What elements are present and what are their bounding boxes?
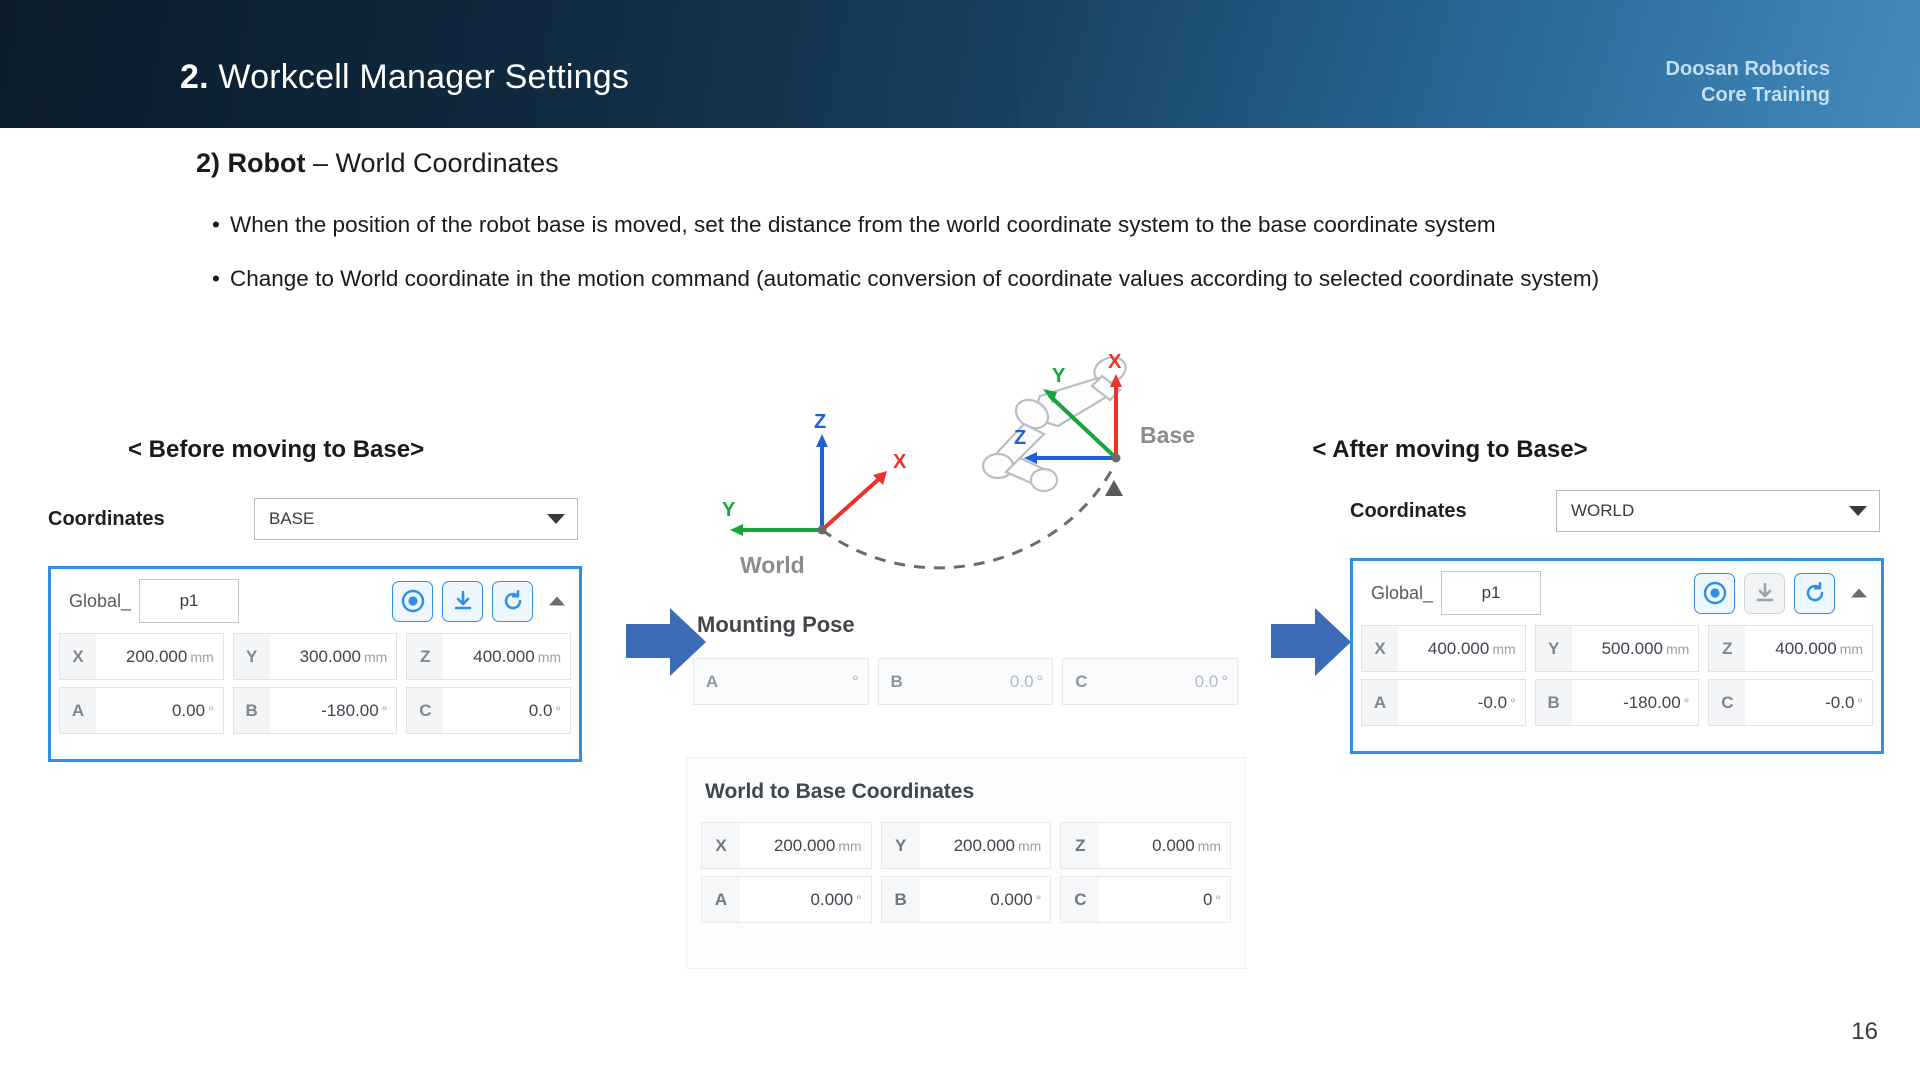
chevron-up-icon[interactable] <box>549 597 565 606</box>
axis-label: C <box>1061 877 1099 922</box>
axis-label: B <box>882 877 920 922</box>
after-pose-panel: Global_ p1 X 400.000mm Y 500.000mm <box>1350 558 1884 754</box>
axis-unit: ° <box>856 892 862 908</box>
axis-unit: mm <box>364 649 387 665</box>
section-heading: 2) Robot – World Coordinates <box>196 148 559 179</box>
coordinates-select-value: WORLD <box>1557 501 1634 521</box>
world-frame-label: World <box>740 552 805 579</box>
axis-label: B <box>234 688 270 733</box>
pose-cell-y[interactable]: Y 500.000mm <box>1535 625 1700 672</box>
svg-text:Y: Y <box>722 499 736 521</box>
axis-label: Y <box>882 823 920 868</box>
wtb-cell-b[interactable]: B 0.000° <box>881 876 1052 923</box>
pose-cell-a[interactable]: A -0.0° <box>1361 679 1526 726</box>
axis-label: A <box>694 659 730 704</box>
table-row: A 0.000° B 0.000° C 0° <box>701 876 1231 923</box>
chevron-up-icon[interactable] <box>1851 589 1867 598</box>
wtb-cell-c[interactable]: C 0° <box>1060 876 1231 923</box>
axis-label: C <box>1063 659 1099 704</box>
chapter-number: 2. <box>180 58 209 96</box>
table-row: A 0.00° B -180.00° C 0.0° <box>59 687 571 734</box>
axis-unit: mm <box>1198 838 1221 854</box>
axis-label: X <box>60 634 96 679</box>
before-pose-panel: Global_ p1 X 200.000mm Y 300.000mm <box>48 566 582 762</box>
pose-header: Global_ p1 <box>1353 561 1881 625</box>
axis-value: -0.0 <box>1478 693 1507 713</box>
axis-label: A <box>60 688 96 733</box>
coordinates-label: Coordinates <box>48 508 254 531</box>
axis-label: C <box>1709 680 1745 725</box>
bullet-text: When the position of the robot base is m… <box>230 208 1632 242</box>
axis-label: C <box>407 688 443 733</box>
chevron-down-icon <box>1849 506 1867 516</box>
axis-unit: ° <box>555 703 561 719</box>
mounting-pose-title: Mounting Pose <box>697 612 855 638</box>
axis-value: 0.000 <box>990 890 1033 910</box>
axis-unit: ° <box>1215 892 1221 908</box>
global-label: Global_ <box>1371 583 1433 604</box>
axis-unit: mm <box>1840 641 1863 657</box>
axis-unit: ° <box>852 672 859 692</box>
axis-unit: mm <box>190 649 213 665</box>
axis-label: Y <box>234 634 270 679</box>
slide-header: 2. Workcell Manager Settings Doosan Robo… <box>0 0 1920 128</box>
refresh-icon[interactable] <box>1794 573 1835 614</box>
axis-unit: ° <box>1510 695 1516 711</box>
axis-unit: ° <box>208 703 214 719</box>
pose-cell-z[interactable]: Z 400.000mm <box>1708 625 1873 672</box>
coordinates-label: Coordinates <box>1350 500 1556 523</box>
axis-value: -0.0 <box>1825 693 1854 713</box>
axis-unit: mm <box>538 649 561 665</box>
bullet-text: Change to World coordinate in the motion… <box>230 262 1632 296</box>
bullet-marker-icon: • <box>212 262 230 296</box>
coordinate-frame-diagram: Z Y X X Z Y <box>640 330 1200 580</box>
wtb-cell-a[interactable]: A 0.000° <box>701 876 872 923</box>
svg-text:Z: Z <box>1014 427 1026 449</box>
bullet-marker-icon: • <box>212 208 230 242</box>
axis-unit: ° <box>1221 672 1228 692</box>
coordinates-select-value: BASE <box>255 509 314 529</box>
table-row: X 200.000mm Y 300.000mm Z 400.000mm <box>59 633 571 680</box>
pose-cell-y[interactable]: Y 300.000mm <box>233 633 398 680</box>
refresh-icon[interactable] <box>492 581 533 622</box>
axis-unit: mm <box>838 838 861 854</box>
world-to-base-grid: X 200.000mm Y 200.000mm Z 0.000mm A 0.00… <box>687 804 1245 923</box>
pose-name-input[interactable]: p1 <box>139 579 239 623</box>
axis-unit: ° <box>382 703 388 719</box>
axis-label: Z <box>407 634 443 679</box>
bullet-list: • When the position of the robot base is… <box>212 208 1632 316</box>
axis-label: Z <box>1709 626 1745 671</box>
axis-label: Z <box>1061 823 1099 868</box>
axis-value: 200.000 <box>954 836 1015 856</box>
download-icon[interactable] <box>442 581 483 622</box>
mounting-pose-grid: A ° B 0.0° C 0.0° <box>693 658 1238 712</box>
pose-grid: X 400.000mm Y 500.000mm Z 400.000mm A -0… <box>1353 625 1881 741</box>
pose-tool-buttons <box>392 581 533 622</box>
axis-value: 0 <box>1203 890 1212 910</box>
axis-unit: ° <box>1037 672 1044 692</box>
axis-unit: mm <box>1666 641 1689 657</box>
axis-value: 500.000 <box>1602 639 1663 659</box>
after-caption: < After moving to Base> <box>1312 436 1587 464</box>
svg-text:X: X <box>893 451 907 473</box>
page-number: 16 <box>1851 1018 1878 1046</box>
axis-value: 0.0 <box>529 701 553 721</box>
brand-line-2: Core Training <box>1666 82 1830 108</box>
list-item: • Change to World coordinate in the moti… <box>212 262 1632 296</box>
axis-label: X <box>1362 626 1398 671</box>
axis-label: X <box>702 823 740 868</box>
chevron-down-icon <box>547 514 565 524</box>
chapter-title: Workcell Manager Settings <box>218 58 629 96</box>
svg-text:Z: Z <box>814 411 826 433</box>
axis-value: 0.000 <box>811 890 854 910</box>
pose-cell-a[interactable]: A 0.00° <box>59 687 224 734</box>
axis-value: 400.000 <box>1428 639 1489 659</box>
world-to-base-title: World to Base Coordinates <box>687 758 1245 804</box>
before-caption: < Before moving to Base> <box>128 436 424 464</box>
target-icon[interactable] <box>1694 573 1735 614</box>
coordinates-select-base[interactable]: BASE <box>254 498 578 540</box>
axis-value: 0.000 <box>1152 836 1195 856</box>
table-row: A -0.0° B -180.00° C -0.0° <box>1361 679 1873 726</box>
axis-unit: ° <box>1857 695 1863 711</box>
axis-value: 400.000 <box>473 647 534 667</box>
axis-value: 300.000 <box>300 647 361 667</box>
axis-label: B <box>1536 680 1572 725</box>
table-row: X 200.000mm Y 200.000mm Z 0.000mm <box>701 822 1231 869</box>
pose-cell-b[interactable]: B -180.00° <box>233 687 398 734</box>
axis-value: 0.00 <box>172 701 205 721</box>
mounting-cell-b[interactable]: B 0.0° <box>878 658 1054 705</box>
axis-label: A <box>702 877 740 922</box>
pose-tool-buttons <box>1694 573 1835 614</box>
axis-unit: ° <box>1684 695 1690 711</box>
pose-cell-c[interactable]: C 0.0° <box>406 687 571 734</box>
axis-unit: mm <box>1492 641 1515 657</box>
svg-text:Y: Y <box>1052 365 1066 387</box>
axis-value: 400.000 <box>1775 639 1836 659</box>
axis-value: -180.00 <box>1623 693 1681 713</box>
axis-value: 0.0 <box>1195 672 1219 692</box>
world-to-base-card: World to Base Coordinates X 200.000mm Y … <box>686 757 1246 969</box>
pose-cell-z[interactable]: Z 400.000mm <box>406 633 571 680</box>
axis-label: A <box>1362 680 1398 725</box>
wtb-cell-x[interactable]: X 200.000mm <box>701 822 872 869</box>
flow-arrow-right <box>1265 600 1357 692</box>
axis-unit: ° <box>1036 892 1042 908</box>
pose-cell-c[interactable]: C -0.0° <box>1708 679 1873 726</box>
pose-cell-x[interactable]: X 200.000mm <box>59 633 224 680</box>
axis-value: 200.000 <box>774 836 835 856</box>
list-item: • When the position of the robot base is… <box>212 208 1632 242</box>
brand-line-1: Doosan Robotics <box>1666 56 1830 82</box>
axis-value: -180.00 <box>321 701 379 721</box>
mounting-cell-a[interactable]: A ° <box>693 658 869 705</box>
before-coordinates-row: Coordinates BASE <box>48 498 578 540</box>
base-frame-label: Base <box>1140 422 1195 449</box>
pose-cell-x[interactable]: X 400.000mm <box>1361 625 1526 672</box>
svg-text:X: X <box>1108 351 1122 373</box>
axis-label: Y <box>1536 626 1572 671</box>
mounting-cell-c[interactable]: C 0.0° <box>1062 658 1238 705</box>
pose-name-input[interactable]: p1 <box>1441 571 1541 615</box>
coordinates-select-world[interactable]: WORLD <box>1556 490 1880 532</box>
wtb-cell-z[interactable]: Z 0.000mm <box>1060 822 1231 869</box>
axis-value: 200.000 <box>126 647 187 667</box>
table-row: A ° B 0.0° C 0.0° <box>693 658 1238 705</box>
axis-unit: mm <box>1018 838 1041 854</box>
download-icon[interactable] <box>1744 573 1785 614</box>
brand-block: Doosan Robotics Core Training <box>1666 56 1830 109</box>
after-coordinates-row: Coordinates WORLD <box>1350 490 1880 532</box>
section-heading-rest: – World Coordinates <box>313 148 559 178</box>
pose-cell-b[interactable]: B -180.00° <box>1535 679 1700 726</box>
pose-grid: X 200.000mm Y 300.000mm Z 400.000mm A 0.… <box>51 633 579 749</box>
pose-header: Global_ p1 <box>51 569 579 633</box>
page-title: 2. Workcell Manager Settings <box>180 58 629 97</box>
global-label: Global_ <box>69 591 131 612</box>
table-row: X 400.000mm Y 500.000mm Z 400.000mm <box>1361 625 1873 672</box>
section-heading-lead: 2) Robot <box>196 148 305 178</box>
axis-label: B <box>879 659 915 704</box>
wtb-cell-y[interactable]: Y 200.000mm <box>881 822 1052 869</box>
axis-value: 0.0 <box>1010 672 1034 692</box>
target-icon[interactable] <box>392 581 433 622</box>
